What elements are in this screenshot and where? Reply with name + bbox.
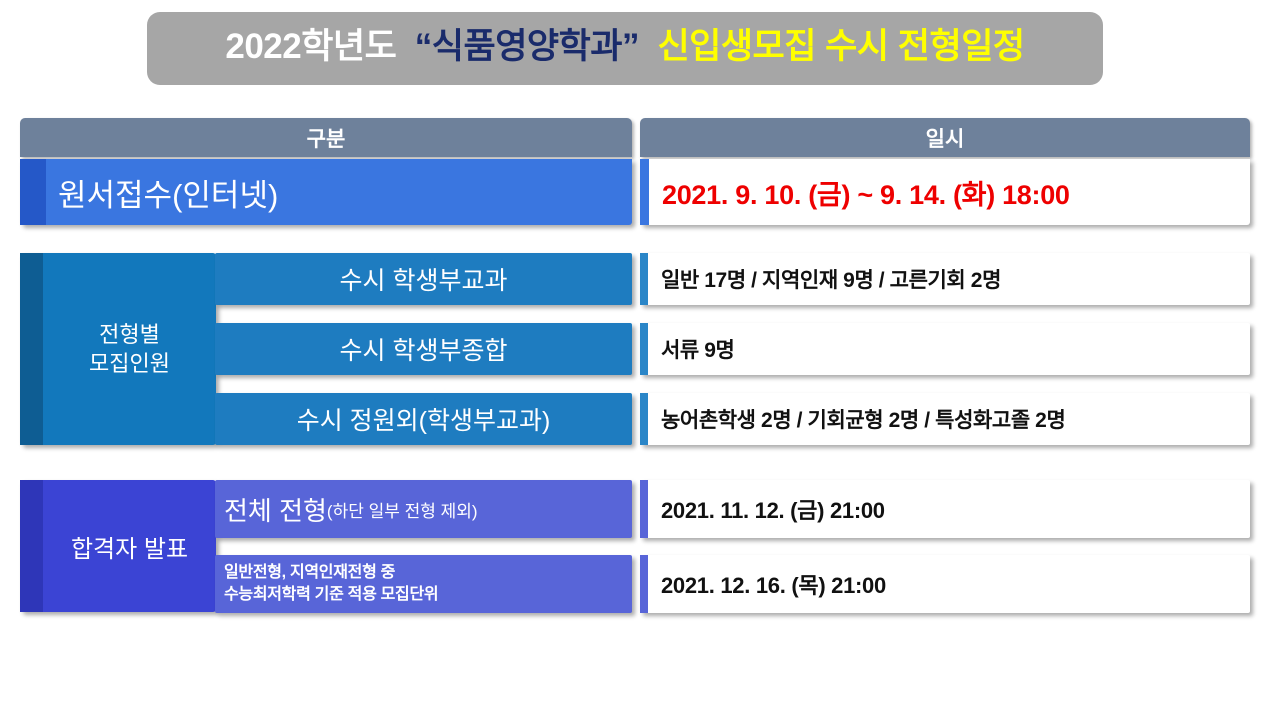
column-header-datetime: 일시 [640,118,1250,157]
block-application-date: 2021. 9. 10. (금) ~ 9. 14. (화) 18:00 [649,159,1250,225]
announcement-row-2-sub-label-line-1: 일반전형, 지역인재전형 중 [224,562,438,584]
announcement-row-2-sub-label: 일반전형, 지역인재전형 중 수능최저학력 기준 적용 모집단위 [215,555,632,613]
block-announcement-label-cell: 합격자 발표 [20,480,216,612]
announcement-row-1-sub-label: 전체 전형(하단 일부 전형 제외) [215,480,632,538]
announcement-row-1-sub-label-main: 전체 전형 [224,491,327,528]
announcement-row-1-value: 2021. 11. 12. (금) 21:00 [648,480,1250,538]
announcement-row-1-value-cell: 2021. 11. 12. (금) 21:00 [640,480,1250,538]
quota-row-2-value-cell: 서류 9명 [640,323,1250,375]
title-year: 2022학년도 [225,27,396,66]
accent-strip [640,555,648,613]
quota-row-1-sub-label-cell: 수시 학생부교과 [215,253,632,305]
slide-title-bar: 2022학년도 “식품영양학과” 신입생모집 수시 전형일정 [147,12,1103,85]
accent-strip [640,323,648,375]
block-quota-label: 전형별 모집인원 [43,253,216,445]
block-quota-label-line-2: 모집인원 [89,349,170,378]
announcement-row-2-sub-label-cell: 일반전형, 지역인재전형 중 수능최저학력 기준 적용 모집단위 [215,555,632,613]
accent-strip [20,253,43,445]
column-header-category: 구분 [20,118,632,157]
accent-strip [640,393,648,445]
quota-row-3-value-cell: 농어촌학생 2명 / 기회균형 2명 / 특성화고졸 2명 [640,393,1250,445]
accent-strip [640,253,648,305]
announcement-row-1-sub-label-note: (하단 일부 전형 제외) [327,497,478,522]
announcement-row-2-value: 2021. 12. 16. (목) 21:00 [648,555,1250,613]
title-subject: 신입생모집 수시 전형일정 [657,27,1024,66]
title-department: “식품영양학과” [415,27,639,66]
quota-row-3-value: 농어촌학생 2명 / 기회균형 2명 / 특성화고졸 2명 [648,393,1250,445]
block-application-value-cell: 2021. 9. 10. (금) ~ 9. 14. (화) 18:00 [640,159,1250,225]
announcement-row-2-sub-label-line-2: 수능최저학력 기준 적용 모집단위 [224,584,438,606]
quota-row-1-sub-label: 수시 학생부교과 [215,253,632,305]
accent-strip [640,480,648,538]
quota-row-3-sub-label: 수시 정원외(학생부교과) [215,393,632,445]
quota-row-2-sub-label: 수시 학생부종합 [215,323,632,375]
block-quota-label-line-1: 전형별 [89,320,170,349]
quota-row-1-value: 일반 17명 / 지역인재 9명 / 고른기회 2명 [648,253,1250,305]
accent-strip [20,480,43,612]
page-title: 2022학년도 “식품영양학과” 신입생모집 수시 전형일정 [225,29,1024,64]
block-application-label-cell: 원서접수(인터넷) [20,159,632,225]
quota-row-2-sub-label-cell: 수시 학생부종합 [215,323,632,375]
quota-row-3-sub-label-cell: 수시 정원외(학생부교과) [215,393,632,445]
block-application-label: 원서접수(인터넷) [46,159,632,225]
announcement-row-2-value-cell: 2021. 12. 16. (목) 21:00 [640,555,1250,613]
block-quota-label-cell: 전형별 모집인원 [20,253,216,445]
announcement-row-1-sub-label-cell: 전체 전형(하단 일부 전형 제외) [215,480,632,538]
block-announcement-label: 합격자 발표 [43,480,216,612]
accent-strip [20,159,46,225]
quota-row-2-value: 서류 9명 [648,323,1250,375]
quota-row-1-value-cell: 일반 17명 / 지역인재 9명 / 고른기회 2명 [640,253,1250,305]
accent-strip [640,159,649,225]
